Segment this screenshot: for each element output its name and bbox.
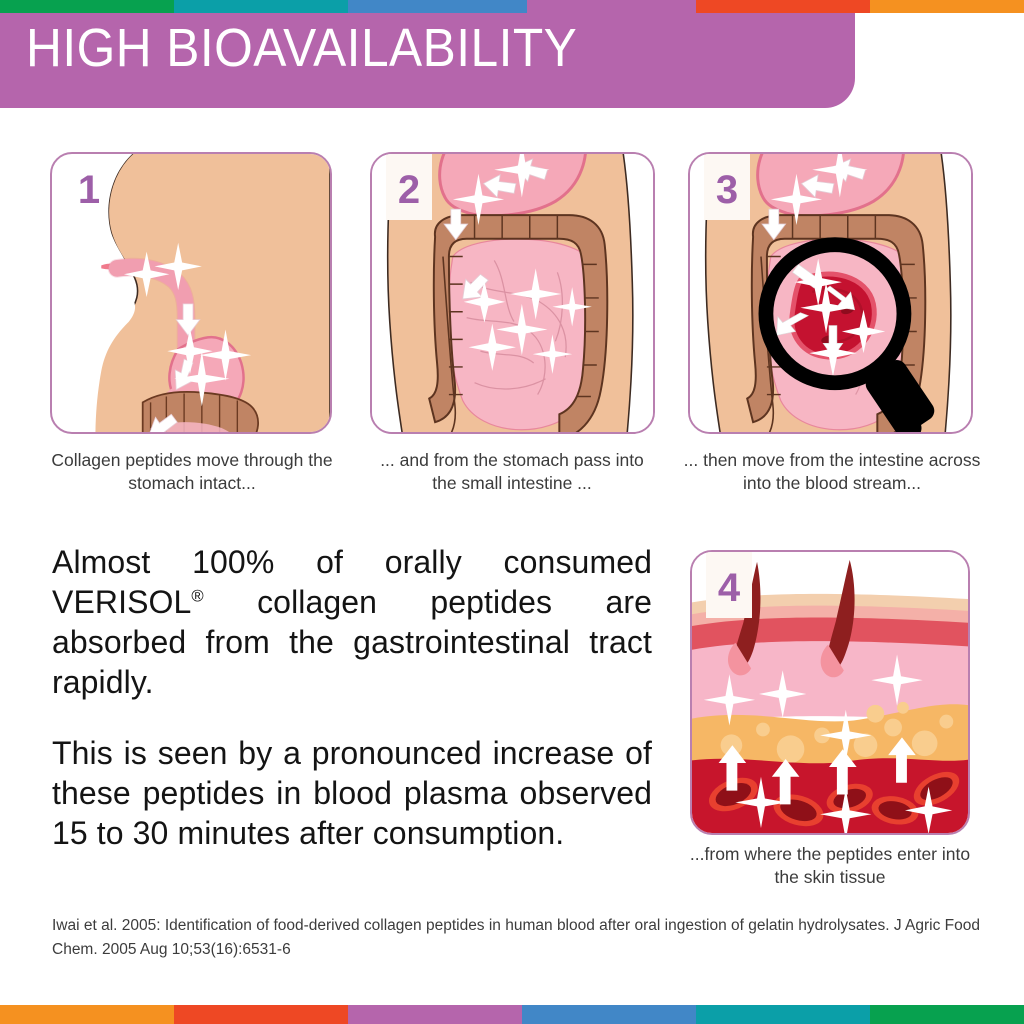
citation-text: Iwai et al. 2005: Identification of food… — [52, 914, 982, 962]
panel-2-badge: 2 — [386, 152, 432, 220]
bottom-bar-segment-orange — [0, 1005, 174, 1024]
body-paragraph-2: This is seen by a pronounced increase of… — [52, 733, 652, 853]
top-bar-segment-red — [696, 0, 870, 13]
bottom-bar-segment-teal — [696, 1005, 870, 1024]
top-bar-segment-teal — [174, 0, 348, 13]
bottom-bar-segment-red — [174, 1005, 348, 1024]
panel-3-badge: 3 — [704, 152, 750, 220]
panel-1-number: 1 — [78, 170, 100, 210]
registered-trademark-symbol: ® — [191, 586, 203, 605]
panel-step-4: 4 — [690, 550, 970, 835]
top-color-bar — [0, 0, 1024, 13]
body-copy: Almost 100% of orally consumed VERISOL® … — [52, 542, 652, 853]
panel-1-caption: Collagen peptides move through the stoma… — [46, 449, 338, 495]
panel-1-badge: 1 — [66, 152, 112, 220]
bottom-bar-segment-green — [870, 1005, 1024, 1024]
bottom-bar-segment-purple — [348, 1005, 522, 1024]
top-bar-segment-blue — [348, 0, 527, 13]
infographic-page: HIGH BIOAVAILABILITY — [0, 0, 1024, 1024]
page-title: HIGH BIOAVAILABILITY — [26, 21, 577, 75]
bottom-bar-segment-blue — [522, 1005, 696, 1024]
body-paragraph-1: Almost 100% of orally consumed VERISOL® … — [52, 542, 652, 702]
panel-2-number: 2 — [398, 170, 420, 210]
panel-4-badge: 4 — [706, 550, 752, 618]
top-bar-segment-green — [0, 0, 174, 13]
panel-4-caption: ...from where the peptides enter into th… — [680, 843, 980, 889]
bottom-color-bar — [0, 1005, 1024, 1024]
panel-3-number: 3 — [716, 170, 738, 210]
panel-4-number: 4 — [718, 568, 740, 608]
panel-2-caption: ... and from the stomach pass into the s… — [366, 449, 658, 495]
panel-3-caption: ... then move from the intestine across … — [682, 449, 982, 495]
panel-step-2: 2 — [370, 152, 655, 434]
top-bar-segment-orange — [870, 0, 1024, 13]
panel-step-1: 1 — [50, 152, 332, 434]
panel-step-3: 3 — [688, 152, 973, 434]
top-bar-segment-purple — [527, 0, 696, 13]
